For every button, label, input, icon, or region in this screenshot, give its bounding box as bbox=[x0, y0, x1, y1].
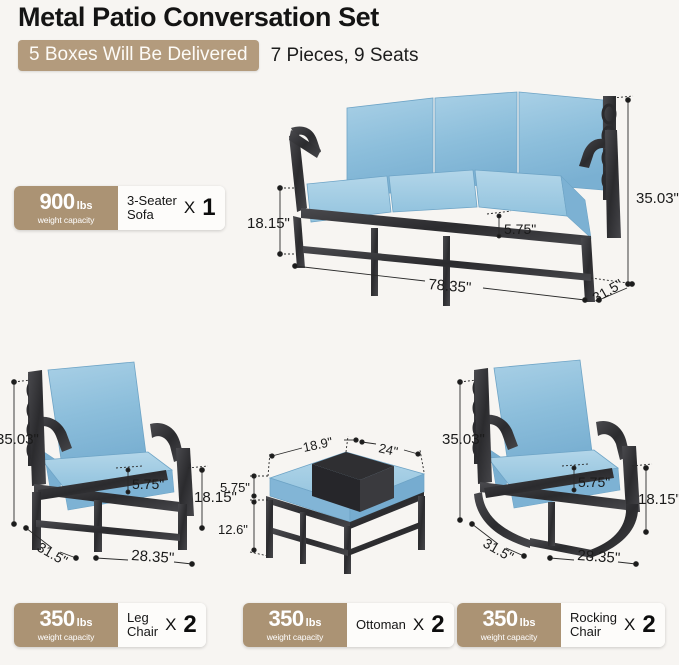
rocking-dim-height: 35.03" bbox=[442, 431, 485, 448]
capacity-quantity-sofa: 1 bbox=[202, 196, 215, 220]
capacity-left-sofa: 900 lbs weight capacity bbox=[14, 186, 118, 230]
capacity-item-legchair: Leg Chair bbox=[127, 611, 158, 638]
capacity-quantity-rocking: 2 bbox=[642, 613, 655, 637]
rocking-dim-seat-height: 18.15" bbox=[638, 491, 679, 508]
sofa-dim-seat-height: 18.15" bbox=[247, 215, 290, 232]
capacity-left-ottoman: 350 lbs weight capacity bbox=[243, 603, 347, 647]
capacity-item-sofa: 3-Seater Sofa bbox=[127, 194, 177, 221]
legchair-dim-width: 28.35" bbox=[131, 547, 175, 567]
capacity-right-ottoman: Ottoman X 2 bbox=[347, 603, 454, 647]
capacity-caption-sofa: weight capacity bbox=[38, 215, 95, 225]
ottoman-dim-width: 18.9" bbox=[302, 434, 335, 455]
capacity-multiplier-legchair: X bbox=[165, 615, 176, 635]
figure-ottoman: 18.9" 24" 5.75" 12.6" bbox=[228, 430, 440, 575]
capacity-badge-ottoman: 350 lbs weight capacity Ottoman X 2 bbox=[243, 603, 454, 647]
ottoman-dim-height: 12.6" bbox=[218, 522, 248, 537]
capacity-caption-rocking: weight capacity bbox=[481, 632, 538, 642]
sofa-dim-height: 35.03" bbox=[636, 190, 679, 207]
legchair-dim-depth: 31.5" bbox=[35, 539, 71, 569]
capacity-item-rocking: Rocking Chair bbox=[570, 611, 617, 638]
capacity-multiplier-sofa: X bbox=[184, 198, 195, 218]
capacity-weight-sofa: 900 bbox=[39, 191, 74, 213]
ottoman-dim-depth: 24" bbox=[377, 440, 399, 459]
sofa-dim-width: 78.35" bbox=[428, 276, 472, 297]
capacity-caption-legchair: weight capacity bbox=[38, 632, 95, 642]
figure-rocking-chair: 35.03" 18.15" 28.35" 31.5" 5.75" bbox=[440, 352, 679, 572]
capacity-value-line-ottoman: 350 lbs bbox=[268, 608, 321, 630]
rocking-dim-cushion: 5.75" bbox=[578, 474, 610, 490]
infographic-root: Metal Patio Conversation Set 5 Boxes Wil… bbox=[0, 0, 679, 665]
capacity-value-line-legchair: 350 lbs bbox=[39, 608, 92, 630]
capacity-right-legchair: Leg Chair X 2 bbox=[118, 603, 206, 647]
legchair-dim-height: 35.03" bbox=[0, 431, 39, 448]
page-title: Metal Patio Conversation Set bbox=[18, 2, 379, 33]
capacity-item-ottoman: Ottoman bbox=[356, 618, 406, 632]
capacity-value-line-sofa: 900 lbs bbox=[39, 191, 92, 213]
capacity-badge-rocking: 350 lbs weight capacity Rocking Chair X … bbox=[457, 603, 665, 647]
capacity-quantity-ottoman: 2 bbox=[431, 613, 444, 637]
capacity-value-line-rocking: 350 lbs bbox=[482, 608, 535, 630]
capacity-quantity-legchair: 2 bbox=[183, 613, 196, 637]
capacity-caption-ottoman: weight capacity bbox=[267, 632, 324, 642]
capacity-weight-ottoman: 350 bbox=[268, 608, 303, 630]
header-subrow: 5 Boxes Will Be Delivered 7 Pieces, 9 Se… bbox=[18, 40, 418, 71]
capacity-unit-sofa: lbs bbox=[77, 201, 93, 212]
capacity-multiplier-ottoman: X bbox=[413, 615, 424, 635]
capacity-left-rocking: 350 lbs weight capacity bbox=[457, 603, 561, 647]
capacity-badge-legchair: 350 lbs weight capacity Leg Chair X 2 bbox=[14, 603, 206, 647]
figure-leg-chair: 35.03" 18.15" 28.35" 31.5" 5.75" bbox=[0, 352, 240, 572]
capacity-weight-rocking: 350 bbox=[482, 608, 517, 630]
capacity-unit-ottoman: lbs bbox=[306, 618, 322, 629]
capacity-left-legchair: 350 lbs weight capacity bbox=[14, 603, 118, 647]
figure-sofa: 35.03" 18.15" 78.35" 31.5" 5.75" bbox=[255, 88, 679, 328]
capacity-right-sofa: 3-Seater Sofa X 1 bbox=[118, 186, 225, 230]
pieces-seats-text: 7 Pieces, 9 Seats bbox=[271, 45, 419, 67]
capacity-unit-legchair: lbs bbox=[77, 618, 93, 629]
capacity-badge-sofa: 900 lbs weight capacity 3-Seater Sofa X … bbox=[14, 186, 225, 230]
rocking-dim-width: 28.35" bbox=[577, 547, 621, 567]
ottoman-dim-cushion: 5.75" bbox=[220, 480, 250, 495]
capacity-weight-legchair: 350 bbox=[39, 608, 74, 630]
boxes-delivered-badge: 5 Boxes Will Be Delivered bbox=[18, 40, 259, 71]
capacity-multiplier-rocking: X bbox=[624, 615, 635, 635]
sofa-dim-cushion: 5.75" bbox=[504, 221, 536, 237]
capacity-right-rocking: Rocking Chair X 2 bbox=[561, 603, 665, 647]
legchair-dim-cushion: 5.75" bbox=[132, 476, 164, 492]
capacity-unit-rocking: lbs bbox=[520, 618, 536, 629]
